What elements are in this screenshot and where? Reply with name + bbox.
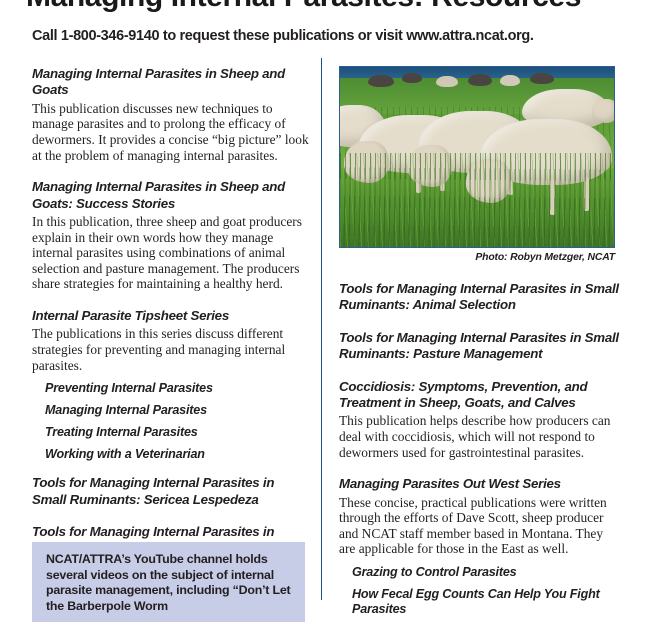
publication-entry: Coccidiosis: Symptoms, Prevention, and T… [339, 379, 621, 461]
publication-entry: Internal Parasite Tipsheet Series The pu… [32, 308, 309, 462]
list-item: Managing Internal Parasites [45, 403, 309, 418]
publication-description: In this publication, three sheep and goa… [32, 214, 309, 292]
list-item: Preventing Internal Parasites [45, 381, 309, 396]
publication-entry: Managing Internal Parasites in Sheep and… [32, 179, 309, 292]
photo-distant-animal [500, 75, 520, 86]
left-column: Managing Internal Parasites in Sheep and… [32, 66, 309, 573]
youtube-callout-box: NCAT/ATTRA’s YouTube channel holds sever… [32, 542, 305, 622]
photo-sheep-head [592, 99, 615, 123]
list-item: How Fecal Egg Counts Can Help You Fight … [352, 587, 621, 617]
callout-text: NCAT/ATTRA’s YouTube channel holds sever… [46, 552, 291, 614]
publication-title: Tools for Managing Internal Parasites in… [339, 281, 621, 314]
publication-description: This publication discusses new technique… [32, 101, 309, 163]
photo-grass-texture-foreground [340, 153, 614, 247]
photo-distant-animal [436, 76, 458, 87]
publication-title: Tools for Managing Internal Parasites in… [339, 330, 621, 363]
out-west-list: Grazing to Control Parasites How Fecal E… [339, 565, 621, 617]
publication-description: This publication helps describe how prod… [339, 413, 621, 460]
page-title: Managing Internal Parasites: Resources [26, 0, 626, 14]
publication-entry: Managing Parasites Out West Series These… [339, 476, 621, 617]
list-item: Treating Internal Parasites [45, 425, 309, 440]
publication-description: These concise, practical publications we… [339, 495, 621, 557]
publication-title: Managing Parasites Out West Series [339, 476, 621, 492]
photo-distant-animal [402, 73, 422, 83]
publication-title: Coccidiosis: Symptoms, Prevention, and T… [339, 379, 621, 412]
right-column: Photo: Robyn Metzger, NCAT Tools for Man… [339, 66, 621, 630]
photo-distant-animal [468, 74, 492, 86]
list-item: Working with a Veterinarian [45, 447, 309, 462]
publication-title: Managing Internal Parasites in Sheep and… [32, 66, 309, 99]
publication-entry: Managing Internal Parasites in Sheep and… [32, 66, 309, 163]
publication-title: Managing Internal Parasites in Sheep and… [32, 179, 309, 212]
publication-entry: Tools for Managing Internal Parasites in… [339, 281, 621, 314]
sheep-grazing-photo [339, 66, 615, 248]
publication-entry: Tools for Managing Internal Parasites in… [339, 330, 621, 363]
photo-distant-animal [530, 73, 554, 84]
publication-title: Tools for Managing Internal Parasites in… [32, 475, 309, 508]
list-item: Grazing to Control Parasites [352, 565, 621, 580]
column-divider [321, 58, 322, 600]
tipsheet-list: Preventing Internal Parasites Managing I… [32, 381, 309, 462]
photo-caption: Photo: Robyn Metzger, NCAT [339, 252, 615, 263]
photo-figure: Photo: Robyn Metzger, NCAT [339, 66, 621, 263]
photo-distant-animal [368, 75, 394, 87]
publication-title: Internal Parasite Tipsheet Series [32, 308, 309, 324]
publication-entry: Tools for Managing Internal Parasites in… [32, 475, 309, 508]
page-subtitle-contact: Call 1-800-346-9140 to request these pub… [32, 28, 632, 44]
publication-description: The publications in this series discuss … [32, 326, 309, 373]
